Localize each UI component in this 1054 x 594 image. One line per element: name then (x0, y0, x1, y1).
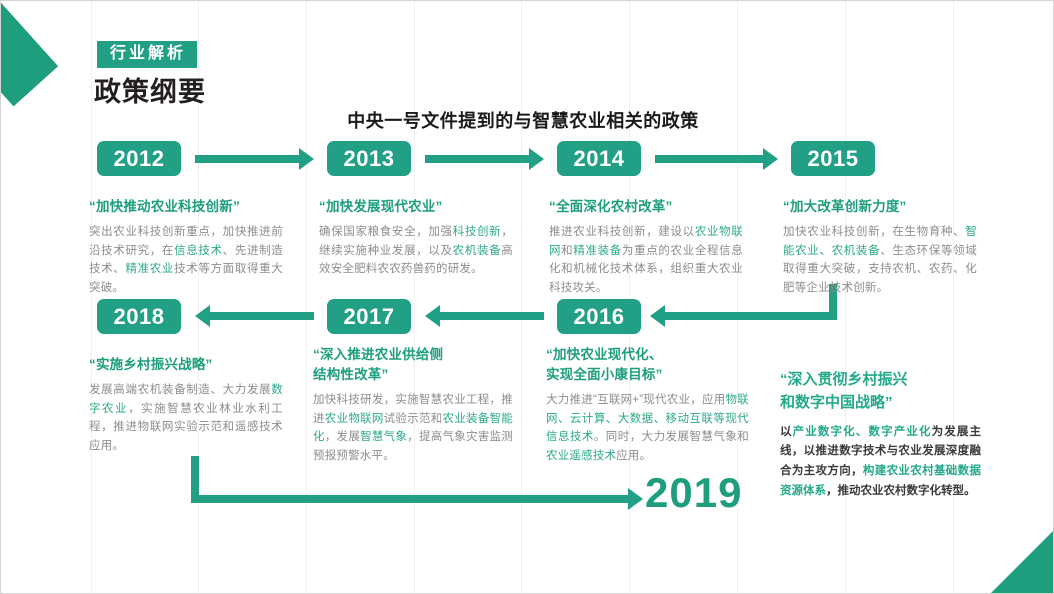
guide-line (91, 1, 92, 594)
year-badge-2017[interactable]: 2017 (327, 299, 411, 334)
year-badge-2016[interactable]: 2016 (557, 299, 641, 334)
corner-decoration-bottom-right (991, 531, 1053, 593)
policy-heading: “实施乡村振兴战略” (89, 355, 283, 375)
policy-body: 突出农业科技创新重点，加快推进前沿技术研究，在信息技术、先进制造技术、精准农业技… (89, 223, 283, 298)
year-badge-2015[interactable]: 2015 (791, 141, 875, 176)
year-badge-2018[interactable]: 2018 (97, 299, 181, 334)
page-title: 政策纲要 (94, 70, 206, 109)
arrow-2015-to-2016 (650, 305, 837, 327)
policy-block-2015: “加大改革创新力度” 加快农业科技创新，在生物育种、智能农业、农机装备、生态环保… (783, 197, 977, 297)
arrow-2018-to-2019 (191, 488, 643, 510)
arrow-2016-to-2017 (195, 305, 314, 327)
policy-heading: “深入贯彻乡村振兴 和数字中国战略” (780, 368, 981, 415)
year-badge-2013[interactable]: 2013 (327, 141, 411, 176)
policy-block-2016: “加快农业现代化、 实现全面小康目标” 大力推进“互联网+”现代农业，应用物联网… (546, 345, 749, 465)
policy-block-2017: “深入推进农业供给侧 结构性改革” 加快科技研发，实施智慧农业工程，推进农业物联… (313, 345, 513, 465)
policy-block-2019: “深入贯彻乡村振兴 和数字中国战略” 以产业数字化、数字产业化为发展主线，以推进… (780, 368, 981, 502)
policy-block-2014: “全面深化农村改革” 推进农业科技创新，建设以农业物联网和精准装备为重点的农业全… (549, 197, 743, 297)
policy-heading: “加快发展现代农业” (319, 197, 513, 217)
policy-heading: “深入推进农业供给侧 结构性改革” (313, 345, 513, 385)
slide-canvas: 行业解析 政策纲要 中央一号文件提到的与智慧农业相关的政策 2012 2013 … (0, 0, 1054, 594)
policy-heading: “全面深化农村改革” (549, 197, 743, 217)
policy-body: 发展高端农机装备制造、大力发展数字农业，实施智慧农业林业水利工程，推进物联网实验… (89, 381, 283, 456)
policy-body: 确保国家粮食安全，加强科技创新，继续实施种业发展，以及农机装备高效安全肥料农农药… (319, 223, 513, 279)
policy-heading: “加快推动农业科技创新” (89, 197, 283, 217)
policy-block-2013: “加快发展现代农业” 确保国家粮食安全，加强科技创新，继续实施种业发展，以及农机… (319, 197, 513, 279)
section-tag: 行业解析 (97, 41, 197, 68)
policy-heading: “加大改革创新力度” (783, 197, 977, 217)
policy-body: 加快农业科技创新，在生物育种、智能农业、农机装备、生态环保等领域取得重大突破，支… (783, 223, 977, 298)
year-label-2019: 2019 (645, 469, 742, 517)
policy-block-2012: “加快推动农业科技创新” 突出农业科技创新重点，加快推进前沿技术研究，在信息技术… (89, 197, 283, 297)
policy-body: 加快科技研发，实施智慧农业工程，推进农业物联网试验示范和农业装备智能化，发展智慧… (313, 391, 513, 466)
arrow-2012-to-2013 (195, 148, 314, 170)
policy-body: 推进农业科技创新，建设以农业物联网和精准装备为重点的农业全程信息化和机械化技术体… (549, 223, 743, 298)
policy-block-2018: “实施乡村振兴战略” 发展高端农机装备制造、大力发展数字农业，实施智慧农业林业水… (89, 355, 283, 455)
arrow-2017-to-2018 (425, 305, 544, 327)
policy-body: 以产业数字化、数字产业化为发展主线，以推进数字技术与农业发展深度融合为主攻方向，… (780, 423, 981, 502)
guide-line (845, 1, 846, 594)
year-badge-2012[interactable]: 2012 (97, 141, 181, 176)
diagram-title: 中央一号文件提到的与智慧农业相关的政策 (1, 107, 1054, 133)
arrow-2014-to-2015 (655, 148, 778, 170)
corner-decoration-top-left (0, 0, 58, 106)
year-badge-2014[interactable]: 2014 (557, 141, 641, 176)
policy-body: 大力推进“互联网+”现代农业，应用物联网、云计算、大数据、移动互联等现代信息技术… (546, 391, 749, 466)
guide-line (953, 1, 954, 594)
arrow-2013-to-2014 (425, 148, 544, 170)
policy-heading: “加快农业现代化、 实现全面小康目标” (546, 345, 749, 385)
